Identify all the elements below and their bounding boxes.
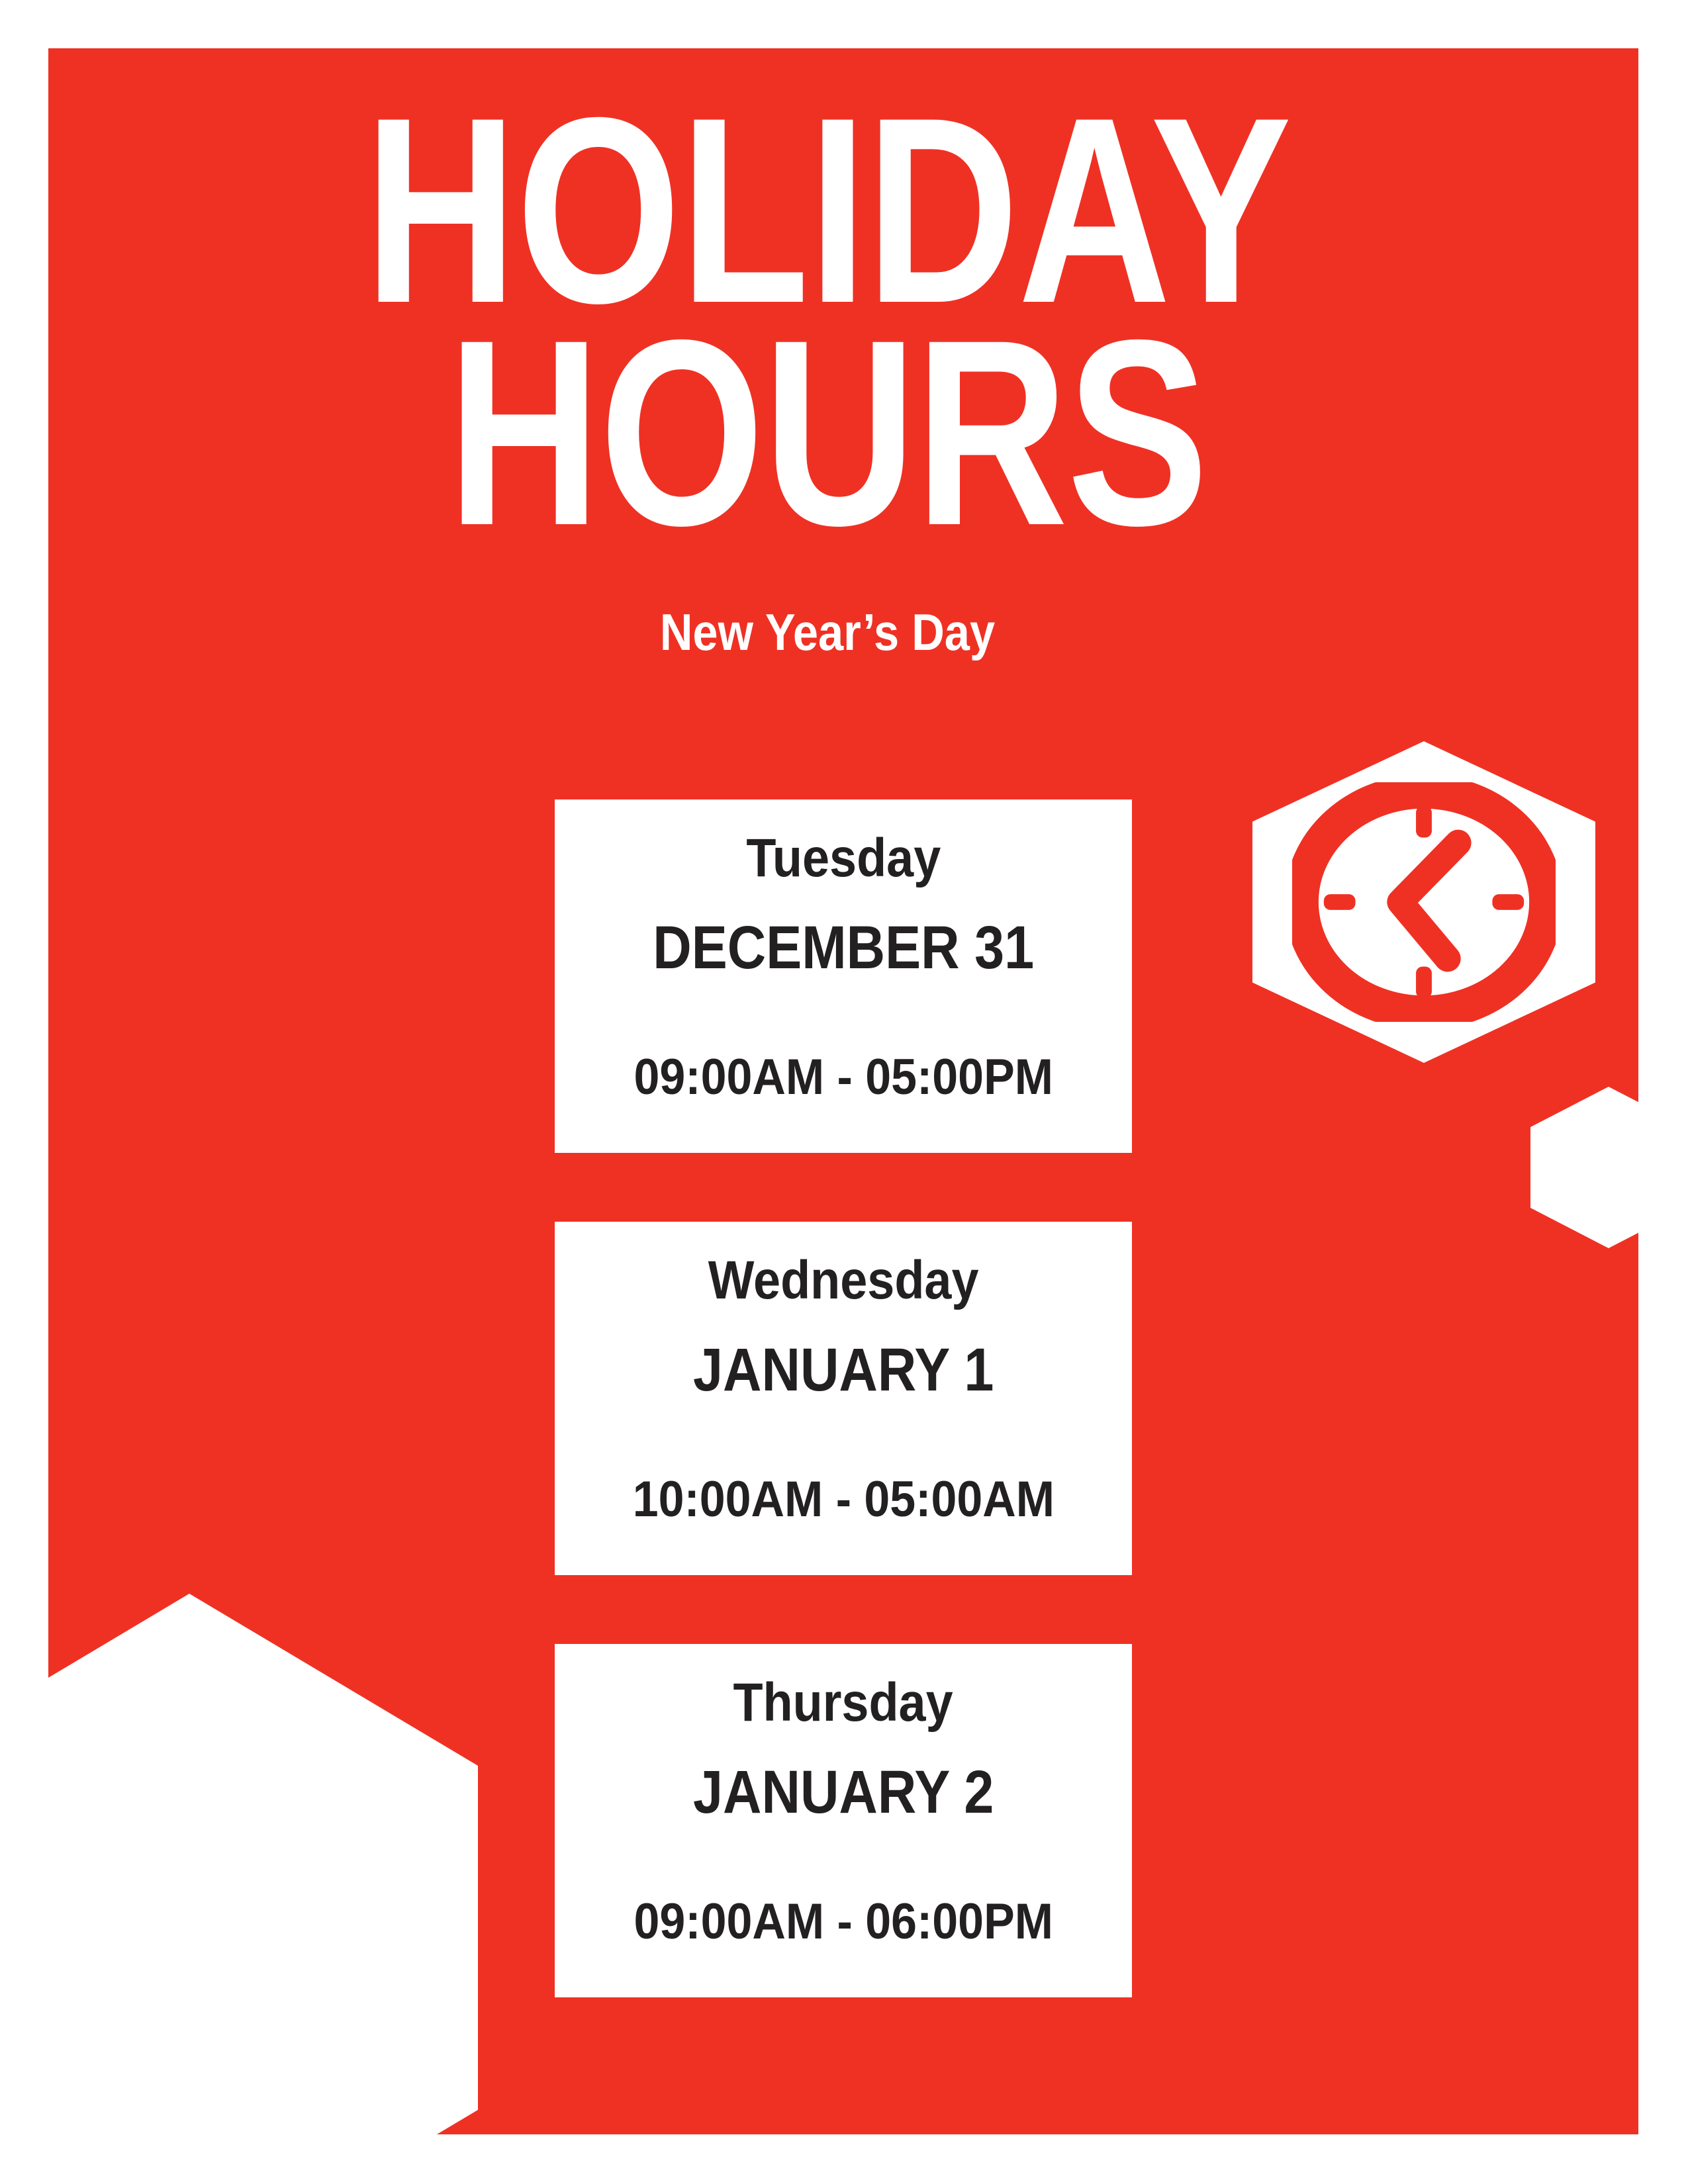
- schedule-card-date: DECEMBER 31: [653, 917, 1034, 978]
- schedule-card-day: Wednesday: [708, 1253, 979, 1308]
- schedule-list: Tuesday DECEMBER 31 09:00AM - 05:00PM We…: [555, 799, 1132, 1997]
- page-subtitle: New Year’s Day: [169, 606, 1486, 658]
- schedule-card-day: Tuesday: [746, 831, 941, 886]
- schedule-card: Thursday JANUARY 2 09:00AM - 06:00PM: [555, 1644, 1132, 1997]
- schedule-card-hours: 09:00AM - 06:00PM: [633, 1897, 1053, 1947]
- schedule-card-date: JANUARY 2: [693, 1762, 994, 1823]
- schedule-card-day: Thursday: [733, 1676, 953, 1730]
- schedule-card-hours: 10:00AM - 05:00AM: [632, 1475, 1054, 1525]
- schedule-card: Tuesday DECEMBER 31 09:00AM - 05:00PM: [555, 799, 1132, 1153]
- schedule-card: Wednesday JANUARY 1 10:00AM - 05:00AM: [555, 1222, 1132, 1575]
- clock-icon: [1292, 782, 1556, 1022]
- schedule-card-hours: 09:00AM - 05:00PM: [633, 1052, 1053, 1103]
- holiday-hours-poster: HOLIDAY HOURS New Year’s Day Tuesday DEC…: [0, 0, 1688, 2184]
- page-title: HOLIDAY HOURS: [79, 99, 1575, 544]
- schedule-card-date: JANUARY 1: [693, 1340, 994, 1400]
- title-line-hours: HOURS: [229, 322, 1426, 544]
